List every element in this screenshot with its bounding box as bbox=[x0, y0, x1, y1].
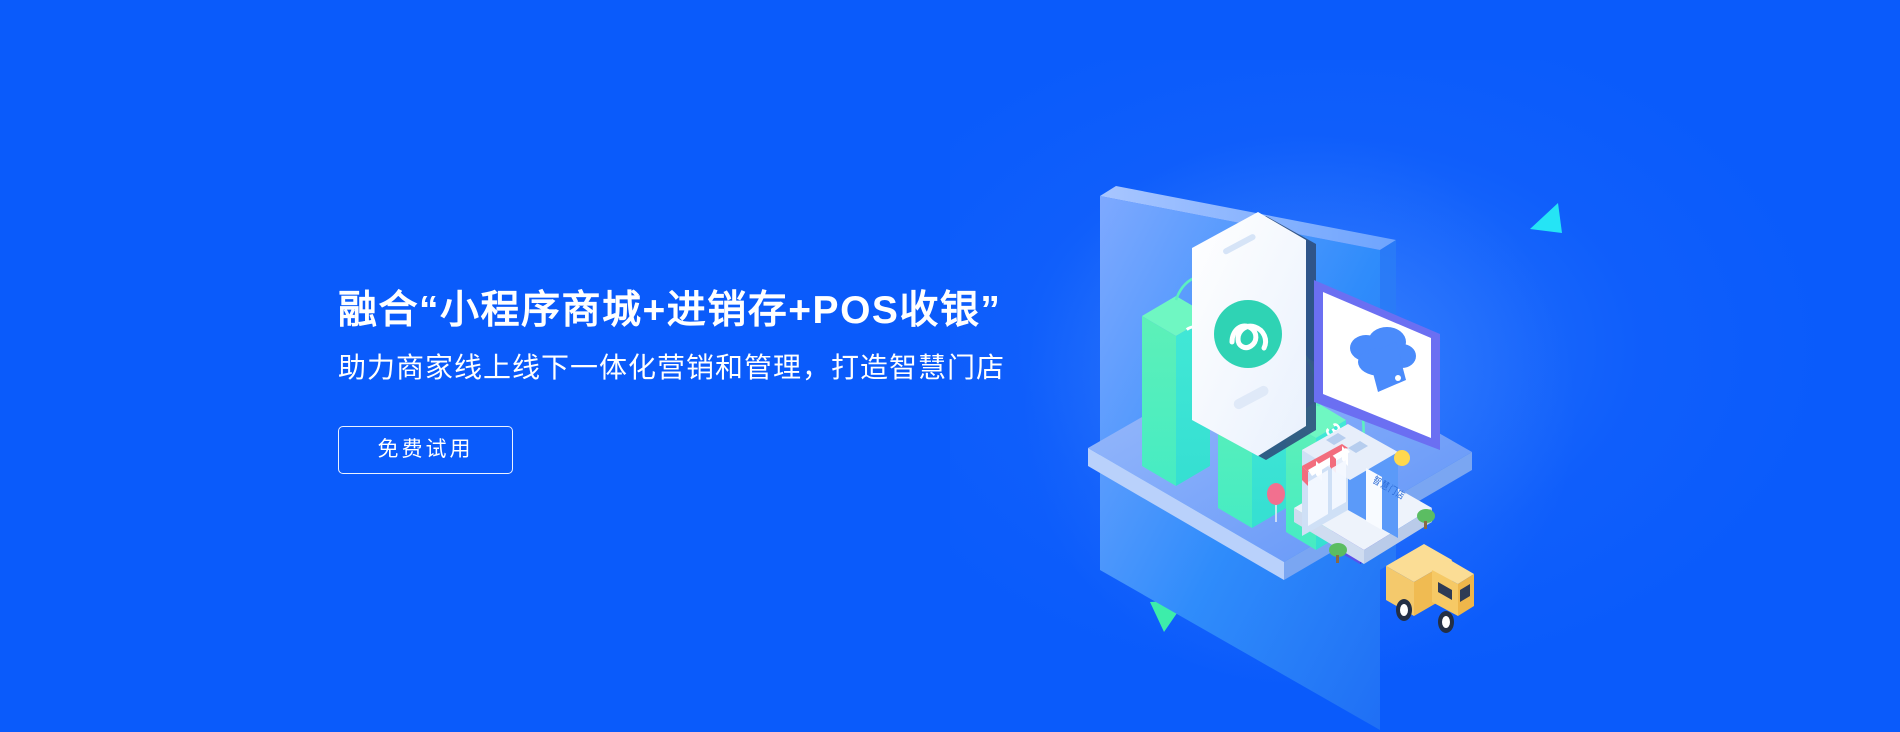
delivery-truck-icon bbox=[1386, 544, 1474, 633]
hero-banner: 融合“小程序商城+进销存+POS收银” 助力商家线上线下一体化营销和管理，打造智… bbox=[0, 0, 1900, 732]
balloon-icon bbox=[1394, 450, 1410, 466]
wechat-miniprogram-icon bbox=[1214, 300, 1282, 368]
page-title: 融合“小程序商城+进销存+POS收银” bbox=[338, 288, 1098, 334]
free-trial-button[interactable]: 免费试用 bbox=[338, 426, 513, 474]
page-subtitle: 助力商家线上线下一体化营销和管理，打造智慧门店 bbox=[338, 350, 1098, 386]
triangle-cyan-top-icon bbox=[1530, 203, 1564, 237]
smartphone bbox=[1192, 212, 1316, 460]
hero-copy: 融合“小程序商城+进销存+POS收银” 助力商家线上线下一体化营销和管理，打造智… bbox=[338, 288, 1098, 474]
isometric-illustration: 70% 45% 30% bbox=[1080, 130, 1500, 650]
